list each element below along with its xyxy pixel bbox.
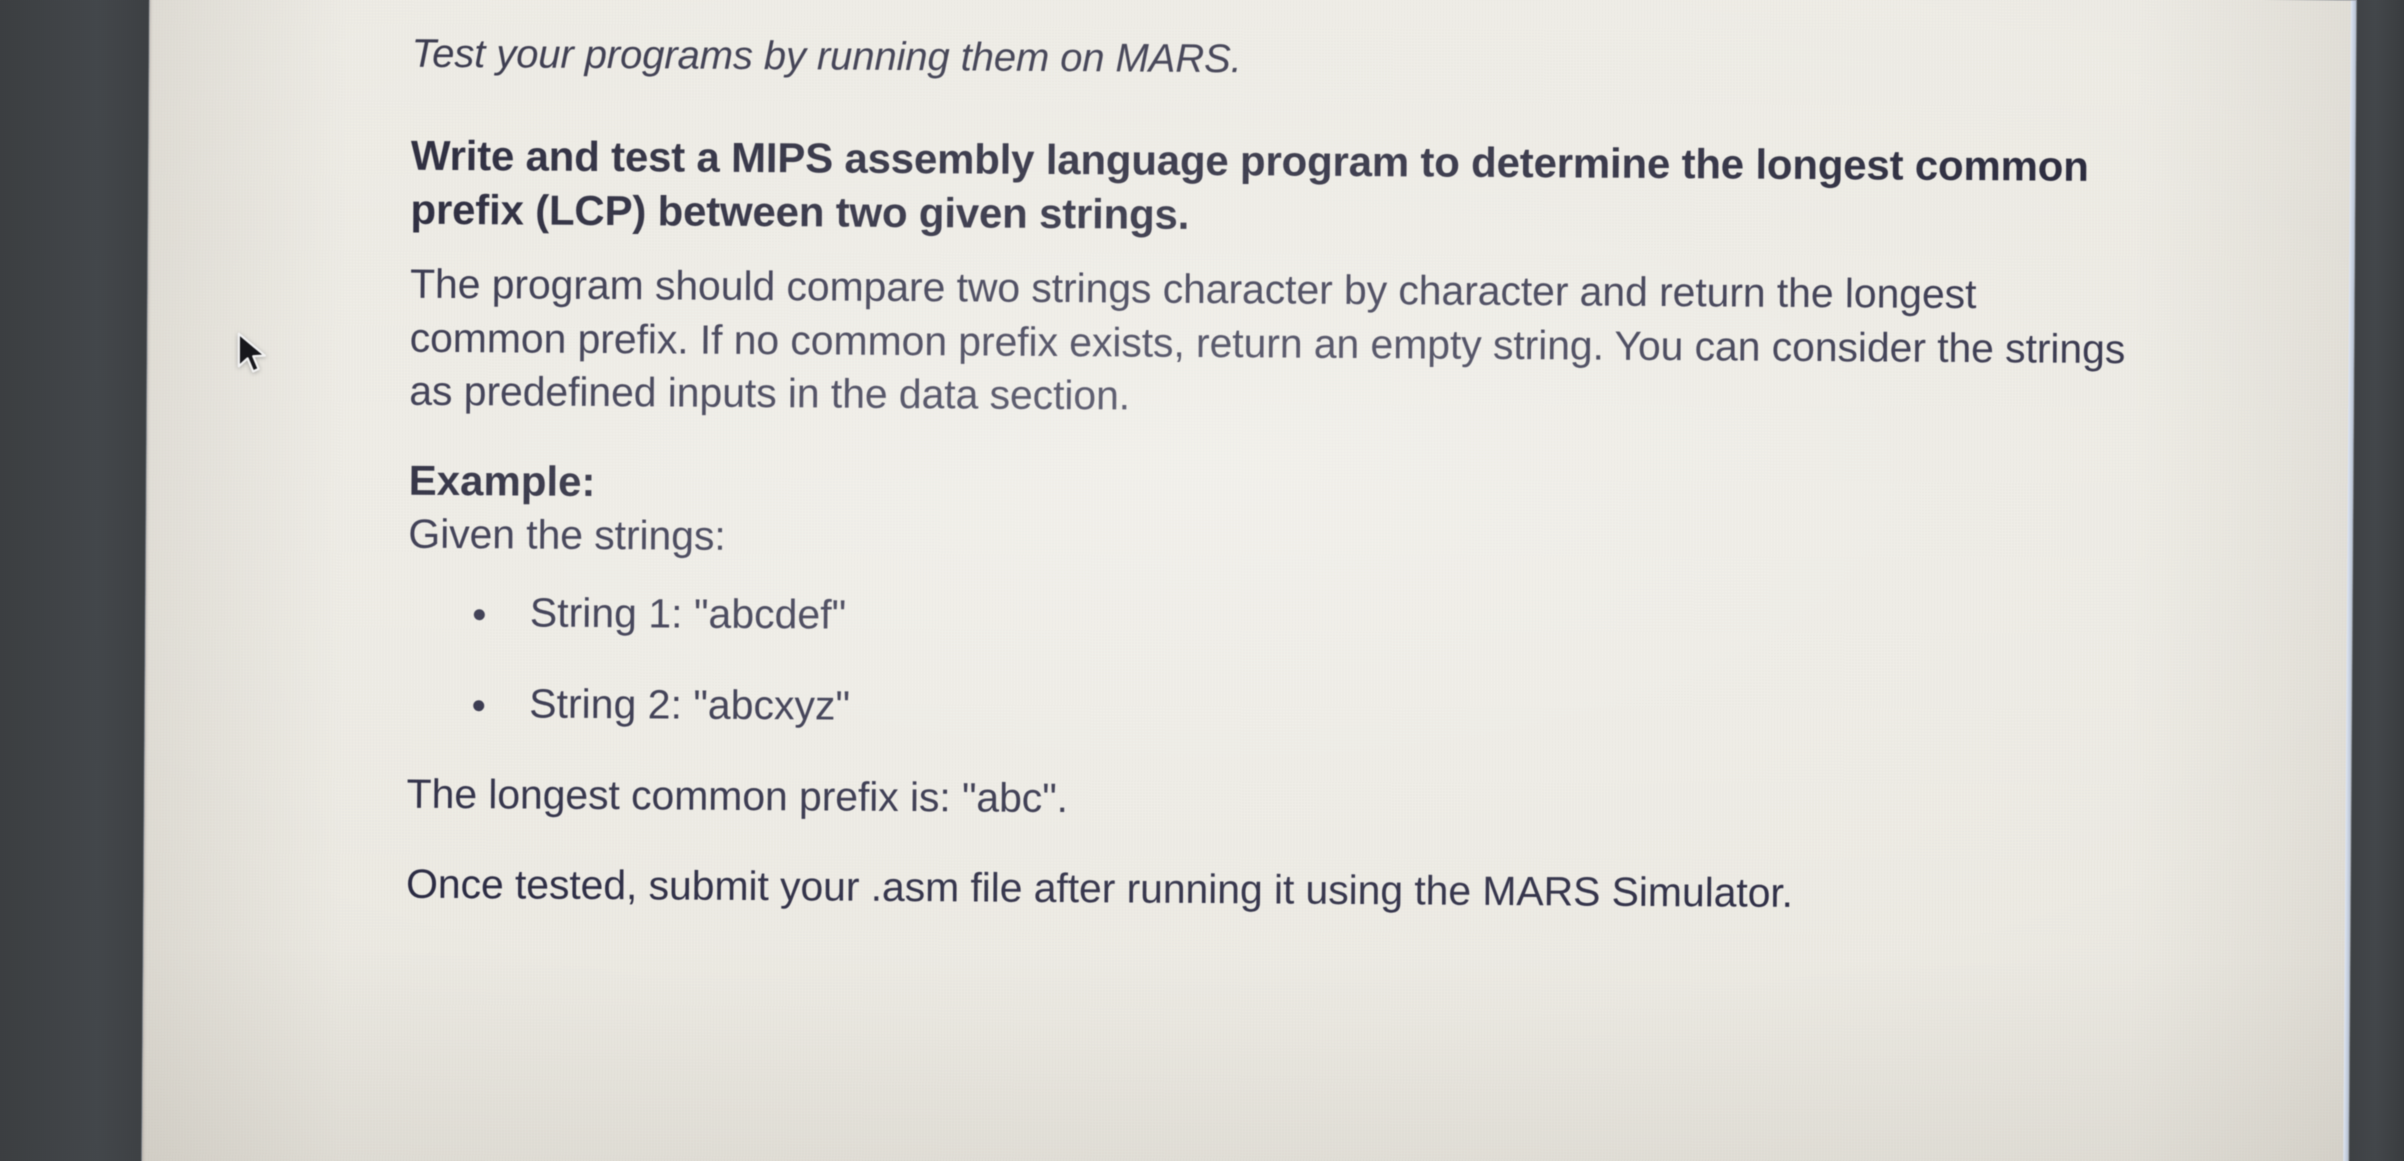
assignment-heading: Write and test a MIPS assembly language … [410,129,2131,250]
given-strings-line: Given the strings: [408,507,2128,572]
bullet-dot-icon [474,609,485,620]
intro-line: Test your programs by running them on MA… [411,32,2131,88]
list-item: String 1: "abcdef" [474,587,2128,649]
document-page: Test your programs by running them on MA… [142,0,2356,1161]
list-item-label: String 2: "abcxyz" [529,680,850,728]
example-strings-list: String 1: "abcdef" String 2: "abcxyz" [407,587,2128,740]
bullet-dot-icon [473,700,484,711]
result-line: The longest common prefix is: "abc". [406,768,2126,833]
submission-instruction-line: Once tested, submit your .asm file after… [406,857,2126,922]
screen-photograph: Test your programs by running them on MA… [0,0,2404,1161]
assignment-description: The program should compare two strings c… [409,258,2130,431]
list-item: String 2: "abcxyz" [473,678,2127,740]
document-content: Test your programs by running them on MA… [406,32,2132,923]
list-item-label: String 1: "abcdef" [530,590,847,638]
